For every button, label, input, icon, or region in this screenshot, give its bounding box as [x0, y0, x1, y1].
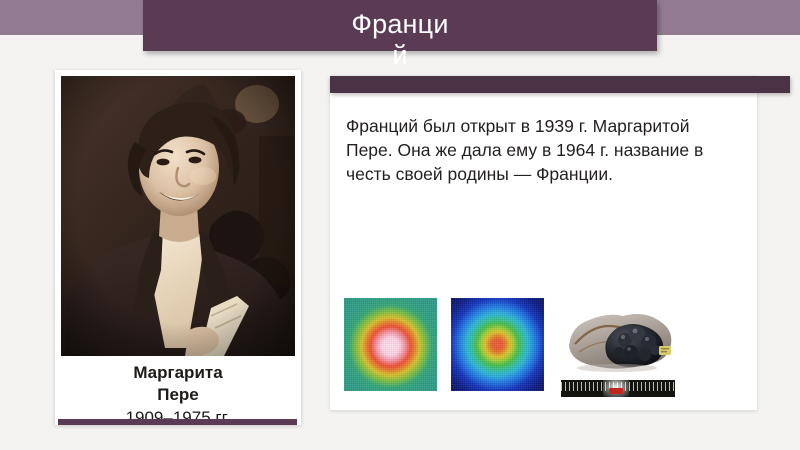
ruler-red-marker: [609, 388, 623, 394]
content-body-text: Франций был открыт в 1939 г. Маргаритой …: [346, 114, 706, 186]
ruler-scale-bar: [561, 380, 675, 397]
portrait-photo-icon: [61, 76, 295, 356]
image-strip: [344, 298, 744, 398]
portrait-caption-name: Маргарита Пере: [55, 362, 301, 406]
bottom-accent-rule: [58, 419, 297, 425]
false-color-spectrum-image-noise: [344, 298, 437, 391]
rainbow-heatmap-image: [451, 298, 544, 391]
title-banner: [143, 0, 657, 51]
portrait-caption-years: 1909–1975 гг.: [55, 407, 301, 429]
mineral-rock-icon: [559, 300, 675, 378]
rainbow-heatmap-image-noise: [451, 298, 544, 391]
false-color-spectrum-image: [344, 298, 437, 391]
mineral-specimen-photo: [559, 298, 675, 398]
portrait-photo: [61, 76, 295, 356]
content-card-header-bar: [330, 76, 790, 93]
mineral-specimen-icon: [559, 300, 675, 378]
portrait-card: Маргарита Пере 1909–1975 гг.: [55, 70, 301, 425]
